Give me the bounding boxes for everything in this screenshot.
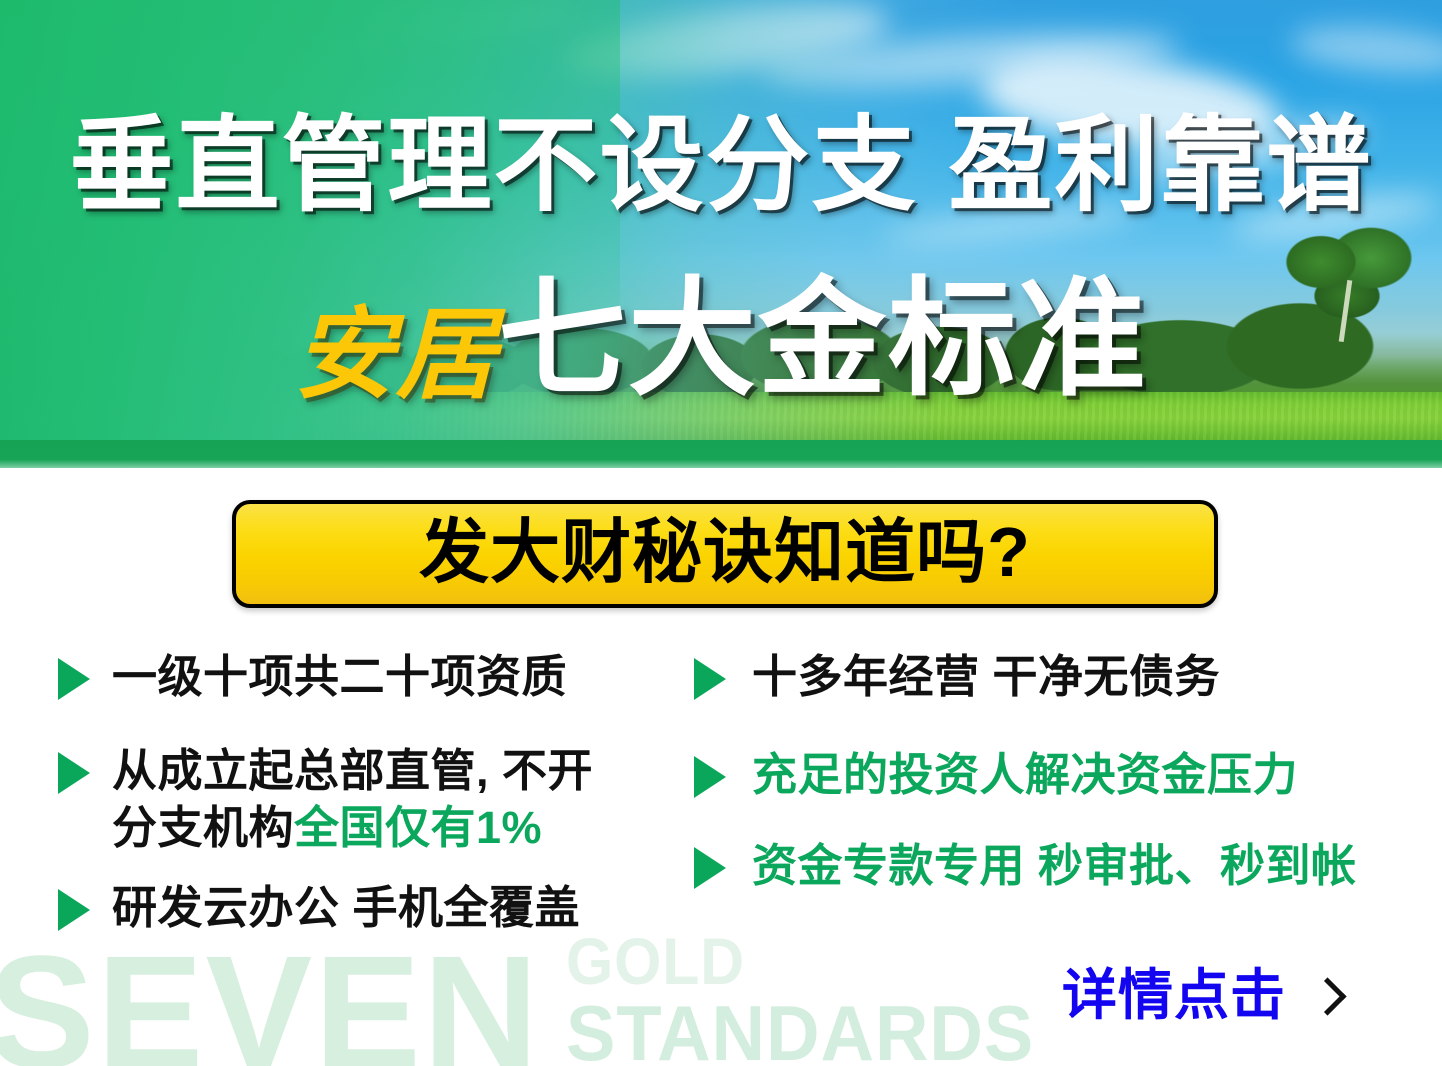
feature-text: 一级十项共二十项资质 xyxy=(112,648,567,706)
watermark-standards: STANDARDS xyxy=(566,994,1034,1066)
hero-headline-primary: 垂直管理不设分支 盈利靠谱 xyxy=(0,114,1442,218)
feature-line: 从成立起总部直管, 不开 xyxy=(112,742,593,800)
list-item: 从成立起总部直管, 不开 分支机构全国仅有1% xyxy=(58,742,698,857)
feature-text: 研发云办公 手机全覆盖 xyxy=(112,879,580,937)
list-item: 十多年经营 干净无债务 xyxy=(694,648,1394,706)
detail-link-label: 详情点击 xyxy=(1062,968,1286,1023)
features-section: 一级十项共二十项资质 从成立起总部直管, 不开 分支机构全国仅有1% 研发云办公… xyxy=(0,648,1442,988)
feature-text: 充足的投资人解决资金压力 xyxy=(752,746,1298,804)
feature-line-highlight: 全国仅有1% xyxy=(294,802,542,853)
list-item: 研发云办公 手机全覆盖 xyxy=(58,879,698,937)
triangle-right-icon xyxy=(58,658,90,700)
feature-line-plain: 分支机构 xyxy=(112,802,294,853)
feature-text: 十多年经营 干净无债务 xyxy=(752,648,1220,706)
feature-line: 分支机构全国仅有1% xyxy=(112,799,593,857)
feature-text: 资金专款专用 秒审批、秒到帐 xyxy=(752,837,1357,895)
feature-line: 一级十项共二十项资质 xyxy=(112,651,567,702)
feature-line: 研发云办公 手机全覆盖 xyxy=(112,882,580,933)
headline-question-text: 发大财秘诀知道吗? xyxy=(419,517,1031,587)
triangle-right-icon xyxy=(694,756,726,798)
feature-text: 从成立起总部直管, 不开 分支机构全国仅有1% xyxy=(112,742,593,857)
triangle-right-icon xyxy=(694,658,726,700)
hero-headline-emphasis: 七大金标准 xyxy=(498,268,1148,411)
features-column-left: 一级十项共二十项资质 从成立起总部直管, 不开 分支机构全国仅有1% 研发云办公… xyxy=(58,648,698,954)
hero-bottom-bar xyxy=(0,440,1442,468)
features-column-right: 十多年经营 干净无债务 充足的投资人解决资金压力 资金专款专用 秒审批、秒到帐 xyxy=(694,648,1394,913)
triangle-right-icon xyxy=(694,847,726,889)
hero-section: 垂直管理不设分支 盈利靠谱 安居七大金标准 xyxy=(0,0,1442,468)
hero-headline-secondary: 安居七大金标准 xyxy=(0,276,1442,404)
hero-headline-brand: 安居 xyxy=(294,295,498,413)
promo-banner-page: 垂直管理不设分支 盈利靠谱 安居七大金标准 发大财秘诀知道吗? 一级十项共二十项… xyxy=(0,0,1442,1066)
list-item: 资金专款专用 秒审批、秒到帐 xyxy=(694,837,1394,895)
headline-question-banner[interactable]: 发大财秘诀知道吗? xyxy=(232,500,1218,608)
detail-link-button[interactable]: 详情点击 xyxy=(1062,968,1338,1023)
list-item: 充足的投资人解决资金压力 xyxy=(694,746,1394,804)
triangle-right-icon xyxy=(58,889,90,931)
list-item: 一级十项共二十项资质 xyxy=(58,648,698,706)
chevron-right-icon xyxy=(1312,974,1338,1018)
triangle-right-icon xyxy=(58,752,90,794)
